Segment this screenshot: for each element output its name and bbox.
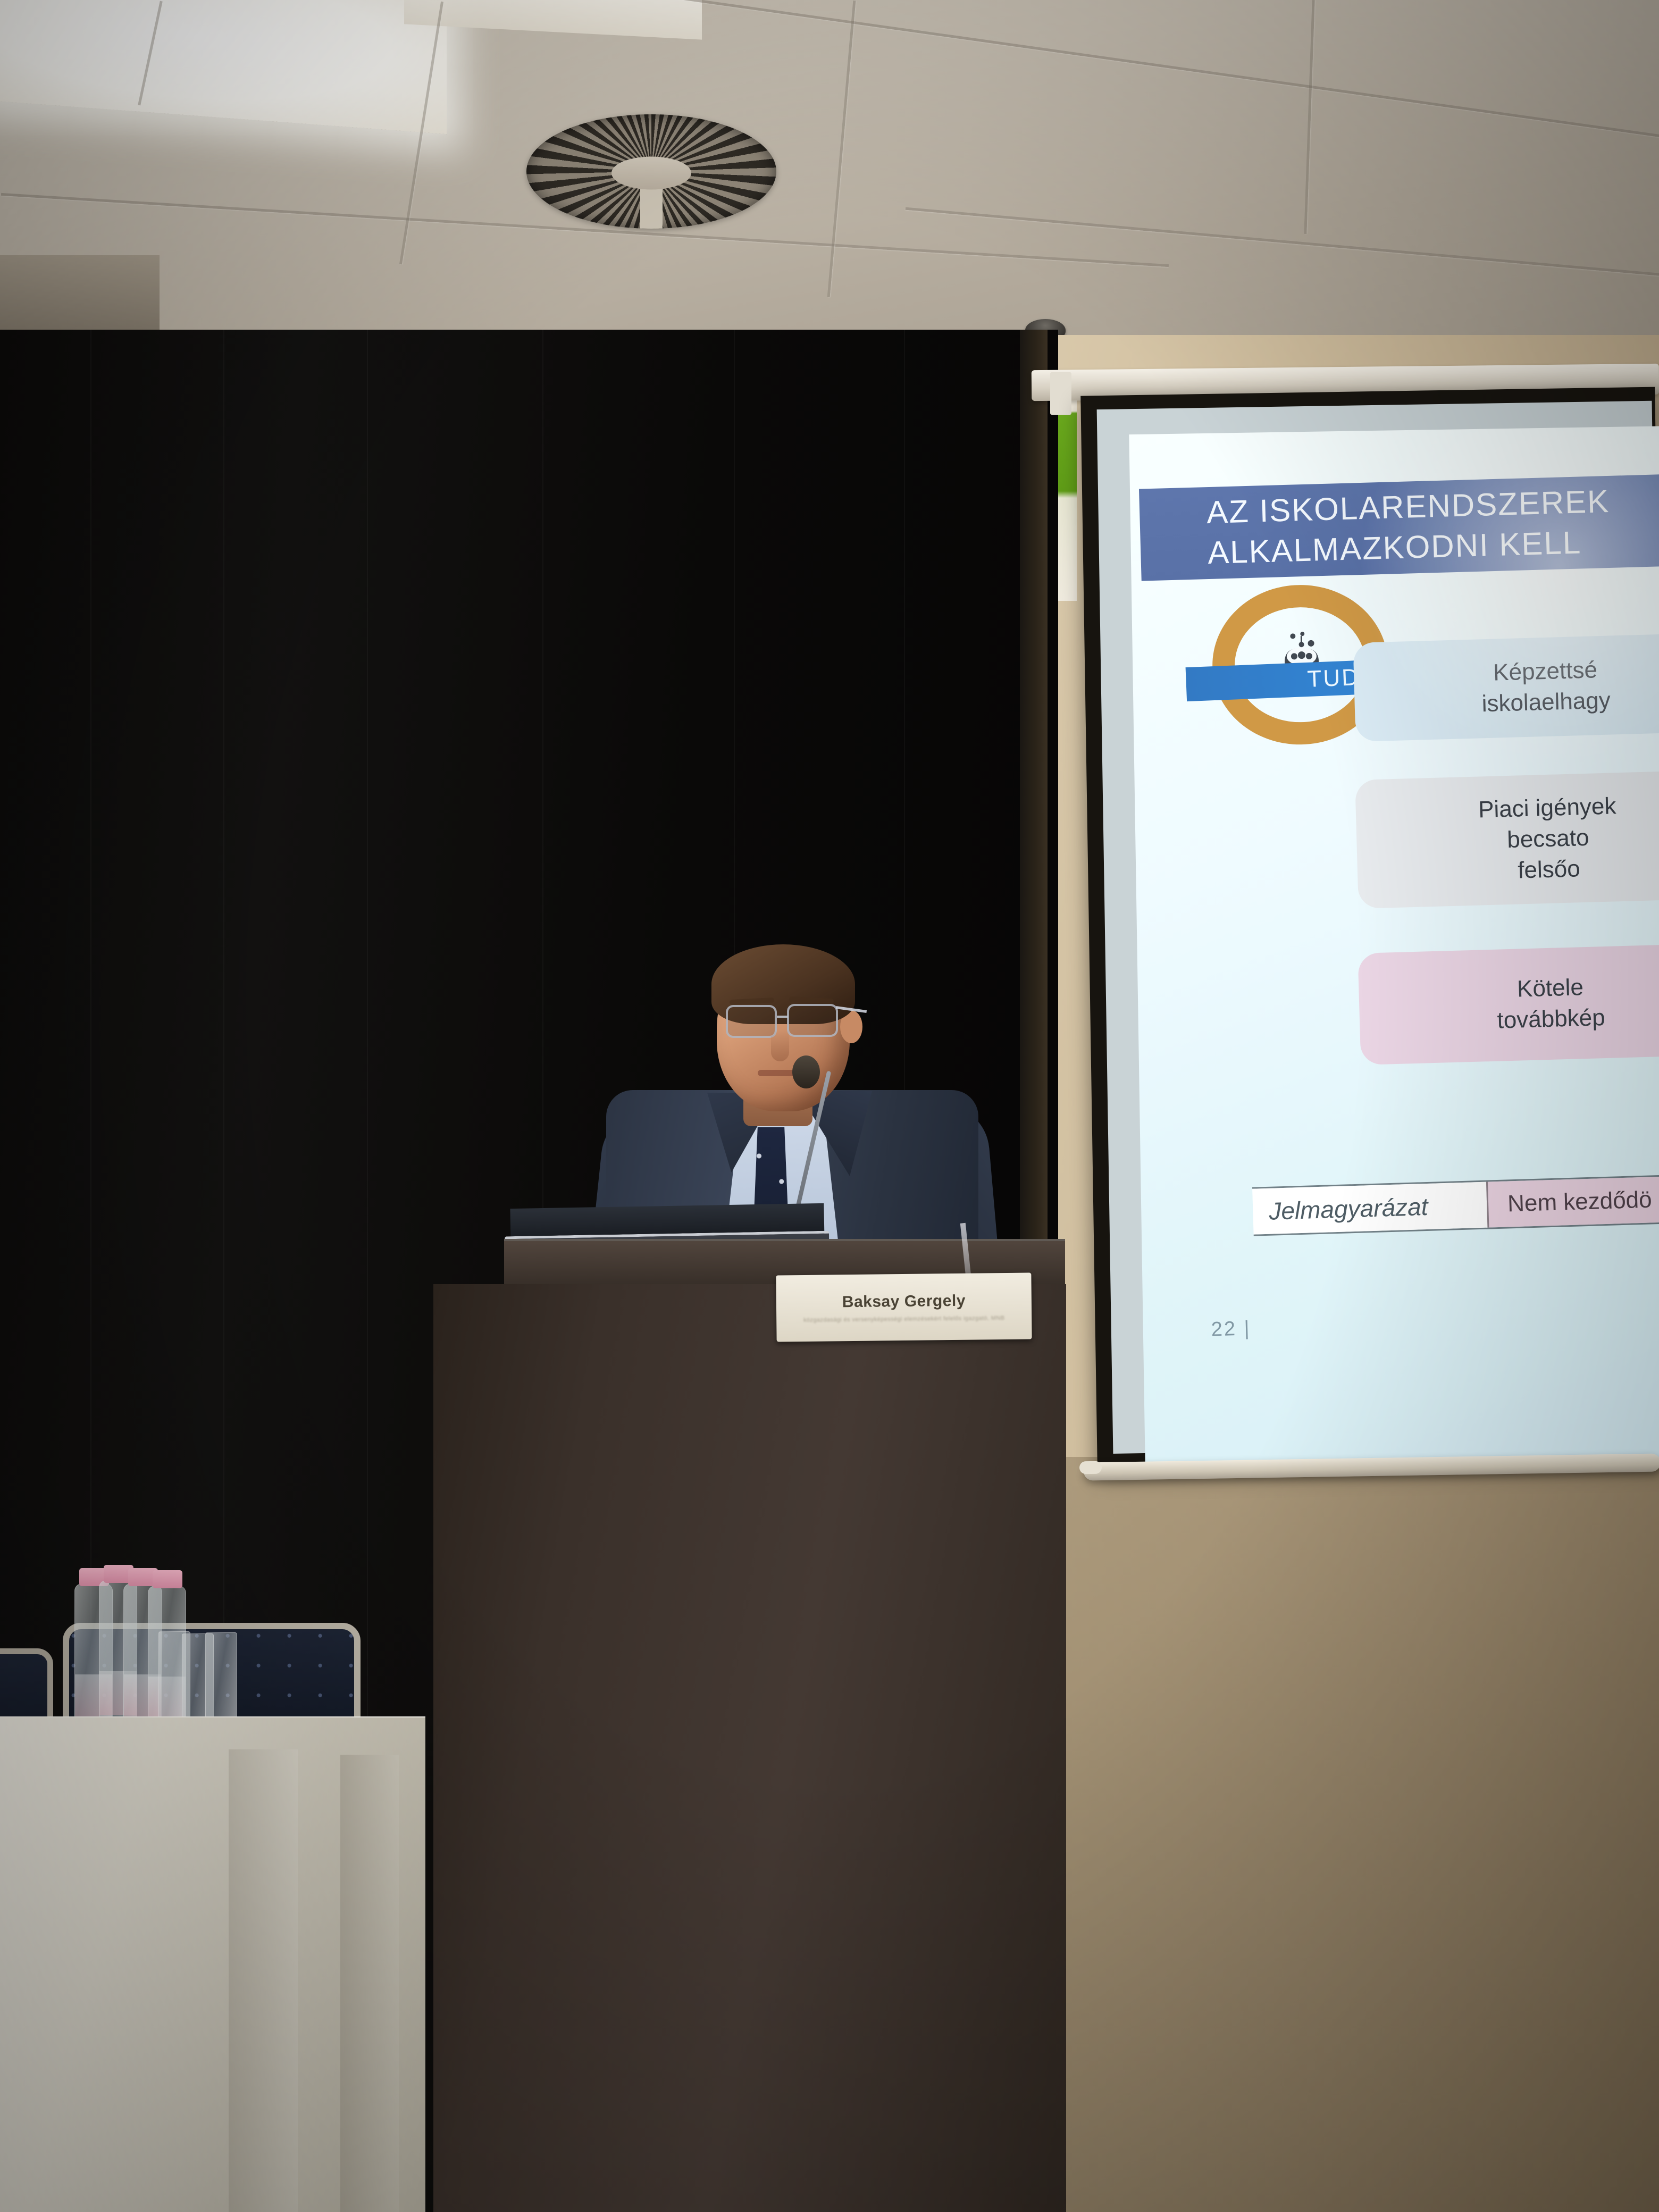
- ceiling-light-panel-secondary: [404, 0, 702, 40]
- diffuser-hub: [611, 156, 691, 189]
- ceiling-grid-line: [906, 207, 1659, 280]
- presentation-slide: AZ ISKOLARENDSZEREK ALKALMAZKODNI KELL: [1129, 426, 1659, 1470]
- projection-screen-surface: AZ ISKOLARENDSZEREK ALKALMAZKODNI KELL: [1097, 401, 1659, 1454]
- legend-label: Jelmagyarázat: [1269, 1192, 1429, 1226]
- legend-entry-cell: Nem kezdődö: [1486, 1173, 1659, 1228]
- speaker-nameplate: Baksay Gergely közgazdasági és versenyké…: [776, 1272, 1032, 1342]
- legend-entry-label: Nem kezdődö: [1507, 1186, 1652, 1217]
- ceiling-grid-line: [827, 1, 856, 297]
- nose: [771, 1030, 789, 1061]
- slide-box-education: Képzettsé iskolaelhagy: [1353, 632, 1659, 742]
- ceiling-air-diffuser-icon: [526, 114, 776, 229]
- speaker-name: Baksay Gergely: [842, 1292, 966, 1311]
- slide-legend: Jelmagyarázat Nem kezdődö: [1252, 1171, 1659, 1236]
- tablecloth-fold: [340, 1755, 399, 2212]
- eyeglasses-bridge: [777, 1016, 788, 1018]
- back-wall-shadow: [1040, 1457, 1659, 2212]
- slide-box-market: Piaci igények becsato felsőo: [1355, 769, 1659, 909]
- slide-box-training: Kötele továbbkép: [1358, 943, 1659, 1065]
- projector-screen-bracket: [1050, 372, 1071, 415]
- legend-label-cell: Jelmagyarázat: [1252, 1182, 1487, 1235]
- drinks-group: [58, 1558, 399, 1728]
- ceiling-grid-line: [643, 0, 1659, 139]
- tablecloth-fold: [229, 1749, 298, 2212]
- ceiling-grid-line: [1304, 0, 1314, 234]
- eyeglasses-lens-left: [726, 1005, 777, 1038]
- slide-title: AZ ISKOLARENDSZEREK ALKALMAZKODNI KELL: [1139, 473, 1659, 581]
- podium: [433, 1284, 1066, 2212]
- projection-screen: AZ ISKOLARENDSZEREK ALKALMAZKODNI KELL: [1080, 387, 1659, 1470]
- bottle-cap: [153, 1570, 182, 1588]
- speaker-title: közgazdasági és versenyképességi elemzés…: [803, 1315, 1004, 1323]
- slide-page-number: 22 |: [1211, 1317, 1251, 1341]
- eyeglasses-lens-right: [787, 1004, 838, 1037]
- microphone-icon: [792, 1055, 820, 1088]
- ceiling-light-panel: [0, 0, 447, 134]
- projector-screen-bar-knob: [1079, 1461, 1102, 1474]
- conference-room-scene: AZ ISKOLARENDSZEREK ALKALMAZKODNI KELL: [0, 0, 1659, 2212]
- ceiling: [0, 0, 1659, 340]
